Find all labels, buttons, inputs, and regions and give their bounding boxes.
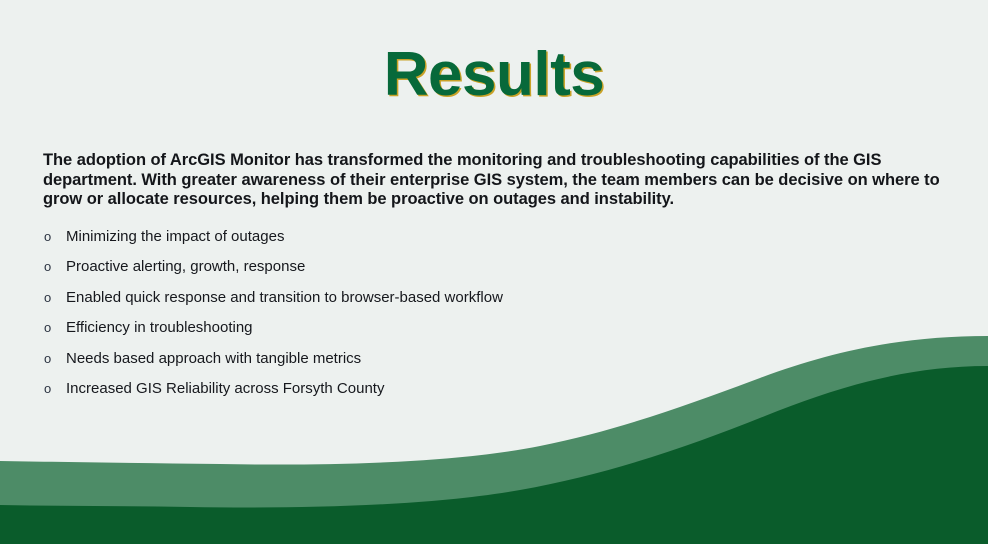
list-item: o Minimizing the impact of outages: [43, 226, 923, 256]
list-item-label: Increased GIS Reliability across Forsyth…: [66, 380, 384, 397]
list-item: o Needs based approach with tangible met…: [43, 348, 923, 378]
list-item-label: Enabled quick response and transition to…: [66, 289, 503, 306]
bullet-circle-icon: o: [44, 378, 51, 400]
list-item-label: Needs based approach with tangible metri…: [66, 350, 361, 367]
bullet-circle-icon: o: [44, 317, 51, 339]
list-item-label: Proactive alerting, growth, response: [66, 258, 305, 275]
list-item: o Proactive alerting, growth, response: [43, 256, 923, 286]
bullet-circle-icon: o: [44, 348, 51, 370]
list-item-label: Efficiency in troubleshooting: [66, 319, 253, 336]
list-item: o Enabled quick response and transition …: [43, 287, 923, 317]
presentation-slide: Results The adoption of ArcGIS Monitor h…: [0, 0, 988, 544]
slide-title: Results: [0, 42, 988, 107]
list-item: o Efficiency in troubleshooting: [43, 317, 923, 347]
list-item: o Increased GIS Reliability across Forsy…: [43, 378, 923, 408]
bullet-circle-icon: o: [44, 256, 51, 278]
bullet-circle-icon: o: [44, 287, 51, 309]
lead-paragraph: The adoption of ArcGIS Monitor has trans…: [43, 151, 943, 210]
bullet-circle-icon: o: [44, 226, 51, 248]
list-item-label: Minimizing the impact of outages: [66, 228, 284, 245]
results-bullet-list: o Minimizing the impact of outages o Pro…: [43, 226, 923, 408]
